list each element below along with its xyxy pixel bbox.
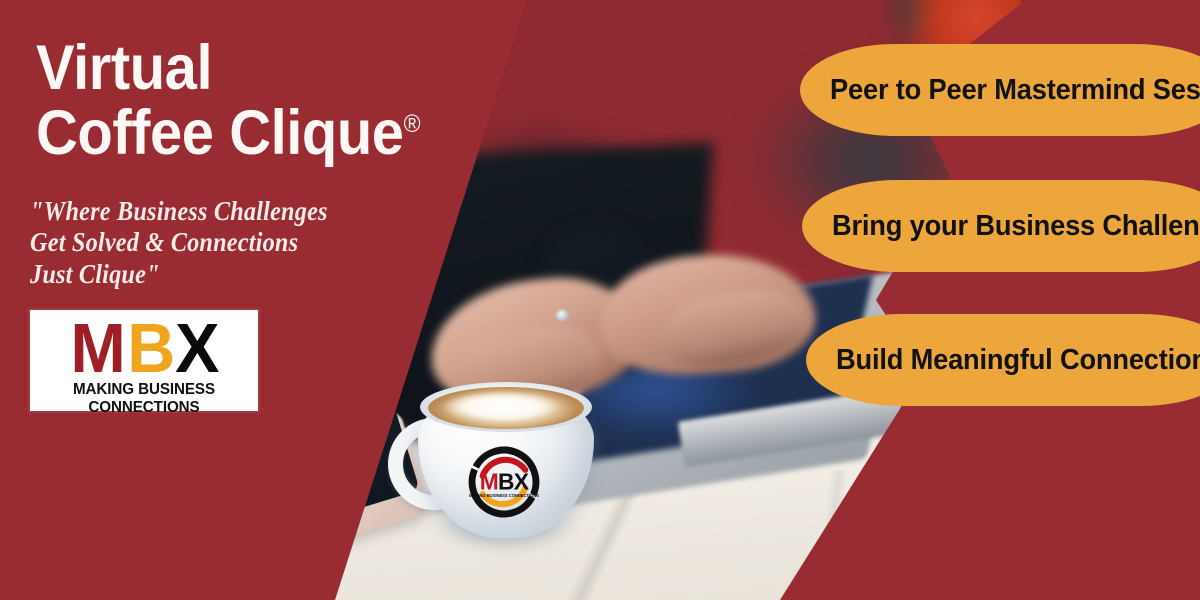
mbx-logo-subtitle: MAKING BUSINESS CONNECTIONS [40,381,248,417]
tagline: "Where Business Challenges Get Solved & … [30,196,390,290]
svg-text:MBX: MBX [480,469,529,495]
tagline-line-1: "Where Business Challenges [30,196,390,227]
feature-pill-3-label: Build Meaningful Connections [836,344,1200,377]
promo-banner: MBX MAKING BUSINESS CONNECTIONS Virtual … [0,0,1200,600]
mbx-logo-letter-m: M [71,319,124,378]
feature-pill-1-label: Peer to Peer Mastermind Session [830,74,1200,107]
cup-mbx-logo-icon: MBX MAKING BUSINESS CONNECTIONS [466,444,542,520]
tagline-line-3: Just Clique" [30,259,390,290]
registered-trademark-icon: ® [404,110,421,138]
feature-pill-3: Build Meaningful Connections [806,314,1200,406]
cup-milk-foam [444,392,564,422]
page-title: Virtual Coffee Clique® [36,36,422,166]
title-line-2-text: Coffee Clique [36,98,404,168]
cup-logo-letter-m: M [480,469,498,495]
feature-pill-1: Peer to Peer Mastermind Session [800,44,1200,136]
feature-pill-2-label: Bring your Business Challenge [832,210,1200,243]
cup-logo-subtitle: MAKING BUSINESS CONNECTIONS [469,493,539,498]
tagline-line-2: Get Solved & Connections [30,227,390,258]
title-line-1: Virtual [36,36,422,101]
mbx-logo-letters: MBX [38,316,250,378]
title-line-2: Coffee Clique® [36,101,422,166]
mbx-logo-letter-x: X [175,319,217,378]
feature-pill-2: Bring your Business Challenge [802,180,1200,272]
finger-ring [556,310,569,321]
cup-logo-letter-b: B [498,469,514,495]
mbx-logo: MBX MAKING BUSINESS CONNECTIONS [28,308,260,413]
mbx-logo-letter-b: B [127,319,173,378]
cup-logo-letter-x: X [514,469,529,495]
